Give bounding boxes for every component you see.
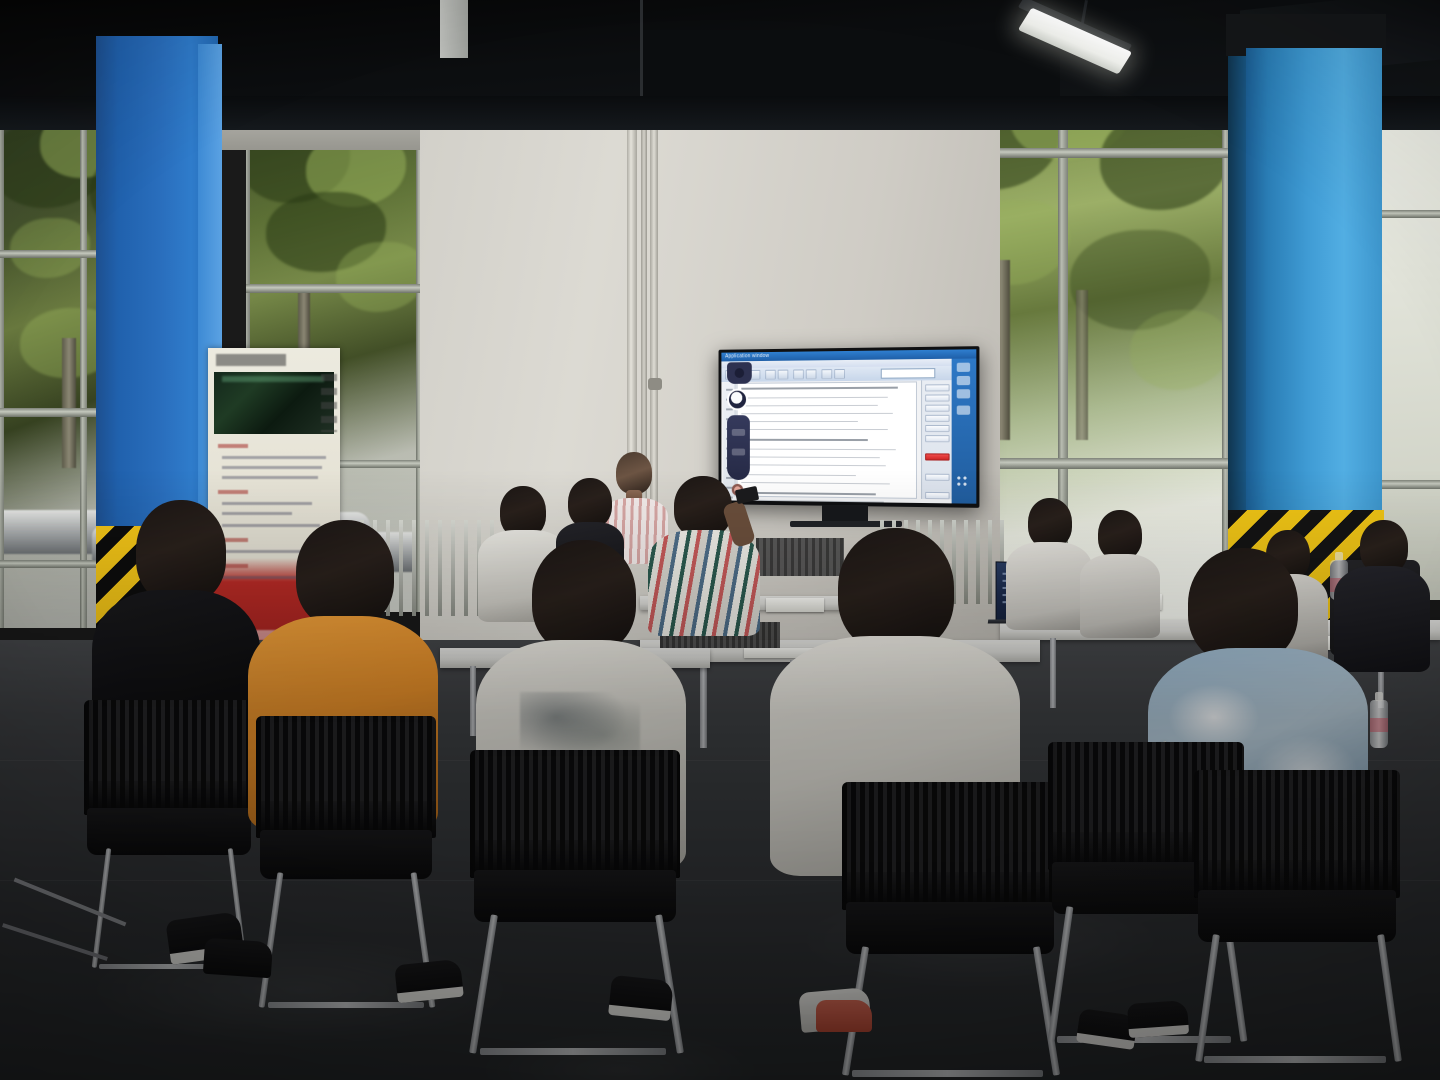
toolbar-button[interactable] <box>821 369 832 379</box>
chair-left-1[interactable] <box>84 700 254 880</box>
app-titlebar-text: Application window <box>725 353 769 360</box>
rail-icon[interactable] <box>957 389 970 398</box>
photo-scene: Application window <box>0 0 1440 1080</box>
table-leg <box>1050 638 1056 708</box>
poster-vertical-title <box>321 374 337 432</box>
document-area[interactable] <box>737 381 917 498</box>
side-panel-alert-button[interactable] <box>925 453 949 460</box>
chair-backrest <box>842 782 1058 910</box>
ceiling-hanger <box>640 0 643 110</box>
overlay-graphic-head <box>727 362 752 384</box>
overlay-graphic-body <box>727 415 750 480</box>
side-panel-button[interactable] <box>925 415 949 422</box>
head <box>1028 498 1072 548</box>
head <box>532 540 636 654</box>
side-panel-button[interactable] <box>925 425 949 432</box>
app-side-panel[interactable] <box>921 380 952 499</box>
head <box>1188 548 1298 664</box>
side-panel-button[interactable] <box>925 394 949 401</box>
shoe <box>203 938 273 979</box>
chair-backrest <box>256 716 436 838</box>
water-bottle <box>1370 700 1388 748</box>
pipe-clamp <box>648 378 662 390</box>
rail-icon[interactable] <box>957 376 970 385</box>
head <box>296 520 394 628</box>
side-panel-button[interactable] <box>925 492 949 499</box>
toolbar-button[interactable] <box>765 370 776 380</box>
chair-legs <box>1186 934 1408 1014</box>
head <box>674 476 732 538</box>
app-right-rail[interactable] <box>952 358 977 503</box>
head <box>136 500 226 604</box>
head <box>1098 510 1142 560</box>
side-panel-button[interactable] <box>925 405 949 412</box>
chair-backrest <box>84 700 254 815</box>
poster-logo-icon <box>216 354 286 366</box>
chair-center-1[interactable] <box>470 750 680 950</box>
chair-right-2[interactable] <box>1194 770 1400 970</box>
grid-menu-icon[interactable] <box>956 475 972 491</box>
shoe <box>1127 1000 1189 1038</box>
chair-backrest <box>470 750 680 878</box>
side-panel-button[interactable] <box>925 384 949 391</box>
shoe <box>608 975 674 1021</box>
overlay-dial-icon <box>727 389 748 411</box>
search-input[interactable] <box>881 368 936 379</box>
side-panel-button[interactable] <box>925 435 949 442</box>
poster-photo <box>214 372 334 434</box>
rail-icon[interactable] <box>957 406 970 415</box>
toolbar-button[interactable] <box>806 369 817 379</box>
chair-center-2[interactable] <box>842 782 1058 982</box>
chair-legs <box>249 872 443 952</box>
chair-left-2[interactable] <box>256 716 436 906</box>
toolbar-button[interactable] <box>834 369 845 379</box>
head <box>568 478 612 528</box>
head <box>838 528 954 652</box>
toolbar-button[interactable] <box>793 369 804 379</box>
ceiling-duct <box>440 0 468 58</box>
table-leg <box>700 660 707 748</box>
shoe <box>394 959 464 1004</box>
chair-backrest <box>1194 770 1400 898</box>
right-column <box>1246 48 1382 510</box>
shoe <box>816 1000 872 1032</box>
toolbar-button[interactable] <box>778 370 789 380</box>
side-panel-button[interactable] <box>925 474 949 481</box>
rail-icon[interactable] <box>957 363 970 372</box>
